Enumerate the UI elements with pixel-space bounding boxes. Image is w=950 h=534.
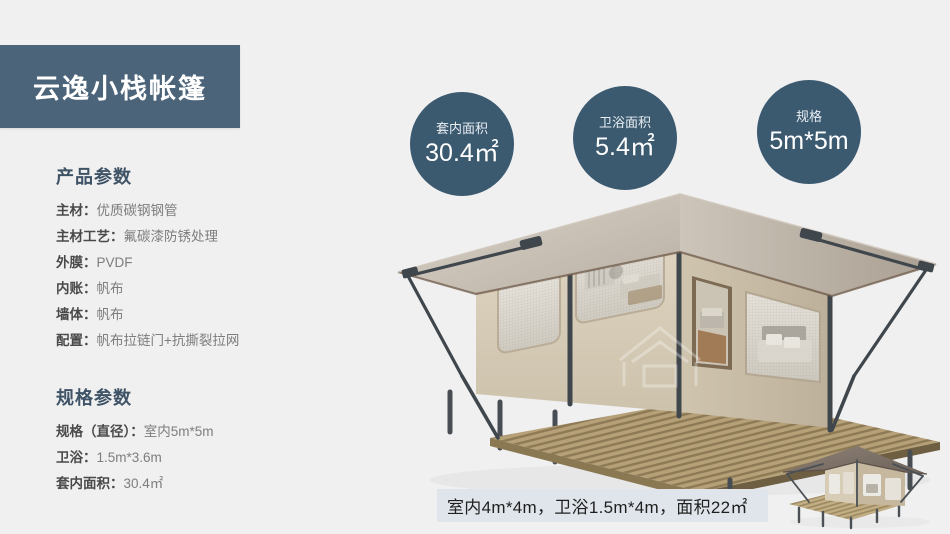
- badge-label: 套内面积: [436, 122, 488, 136]
- spec-label: 主材工艺：: [56, 229, 124, 244]
- section-divider: [56, 362, 356, 384]
- spec-label: 卫浴：: [56, 450, 97, 465]
- spec-value: 优质碳钢钢管: [97, 203, 178, 218]
- spec-label: 外膜：: [56, 255, 97, 270]
- spec-row: 规格（直径）：室内5m*5m: [56, 419, 356, 445]
- badge-label: 卫浴面积: [599, 116, 651, 130]
- product-params-heading: 产品参数: [56, 163, 356, 189]
- caption-bar: 室内4m*4m，卫浴1.5m*4m，面积22㎡: [437, 489, 768, 522]
- safari-tent-thumbnail: [765, 432, 945, 530]
- badge-label: 规格: [796, 110, 822, 124]
- spec-row: 外膜：PVDF: [56, 250, 356, 276]
- spec-label: 主材：: [56, 203, 97, 218]
- caption-text: 室内4m*4m，卫浴1.5m*4m，面积22㎡: [447, 493, 748, 518]
- badge-value: 5.4㎡: [595, 134, 655, 160]
- spec-value: 1.5m*3.6m: [97, 450, 162, 465]
- spec-row: 套内面积：30.4㎡: [56, 471, 356, 497]
- badge-value: 30.4㎡: [425, 140, 499, 166]
- spec-value: PVDF: [97, 255, 133, 270]
- spec-row: 墙体：帆布: [56, 302, 356, 328]
- spec-label: 套内面积：: [56, 476, 124, 491]
- spec-value: 帆布: [97, 307, 124, 322]
- badge-value: 5m*5m: [769, 128, 848, 154]
- spec-value: 氟碳漆防锈处理: [124, 229, 219, 244]
- spec-value: 室内5m*5m: [144, 424, 214, 439]
- spec-label: 墙体：: [56, 307, 97, 322]
- product-params-section: 产品参数 主材：优质碳钢钢管 主材工艺：氟碳漆防锈处理 外膜：PVDF 内账：帆…: [56, 163, 356, 354]
- spec-row: 主材工艺：氟碳漆防锈处理: [56, 224, 356, 250]
- spec-label: 规格（直径）：: [56, 424, 144, 439]
- specification-column: 产品参数 主材：优质碳钢钢管 主材工艺：氟碳漆防锈处理 外膜：PVDF 内账：帆…: [56, 163, 356, 505]
- page-title: 云逸小栈帐篷: [33, 67, 207, 106]
- spec-value: 帆布拉链门+抗撕裂拉网: [97, 333, 240, 348]
- product-spec-page: 云逸小栈帐篷 产品参数 主材：优质碳钢钢管 主材工艺：氟碳漆防锈处理 外膜：PV…: [0, 0, 950, 534]
- spec-params-heading: 规格参数: [56, 384, 356, 410]
- spec-row: 主材：优质碳钢钢管: [56, 198, 356, 224]
- spec-value: 帆布: [97, 281, 124, 296]
- badge-bathroom-area: 卫浴面积 5.4㎡: [573, 86, 677, 190]
- spec-row: 配置：帆布拉链门+抗撕裂拉网: [56, 328, 356, 354]
- badge-dimensions: 规格 5m*5m: [757, 80, 861, 184]
- spec-label: 内账：: [56, 281, 97, 296]
- spec-label: 配置：: [56, 333, 97, 348]
- spec-value: 30.4㎡: [124, 476, 164, 491]
- spec-row: 内账：帆布: [56, 276, 356, 302]
- title-banner: 云逸小栈帐篷: [0, 45, 240, 128]
- spec-params-section: 规格参数 规格（直径）：室内5m*5m 卫浴：1.5m*3.6m 套内面积：30…: [56, 384, 356, 497]
- spec-row: 卫浴：1.5m*3.6m: [56, 445, 356, 471]
